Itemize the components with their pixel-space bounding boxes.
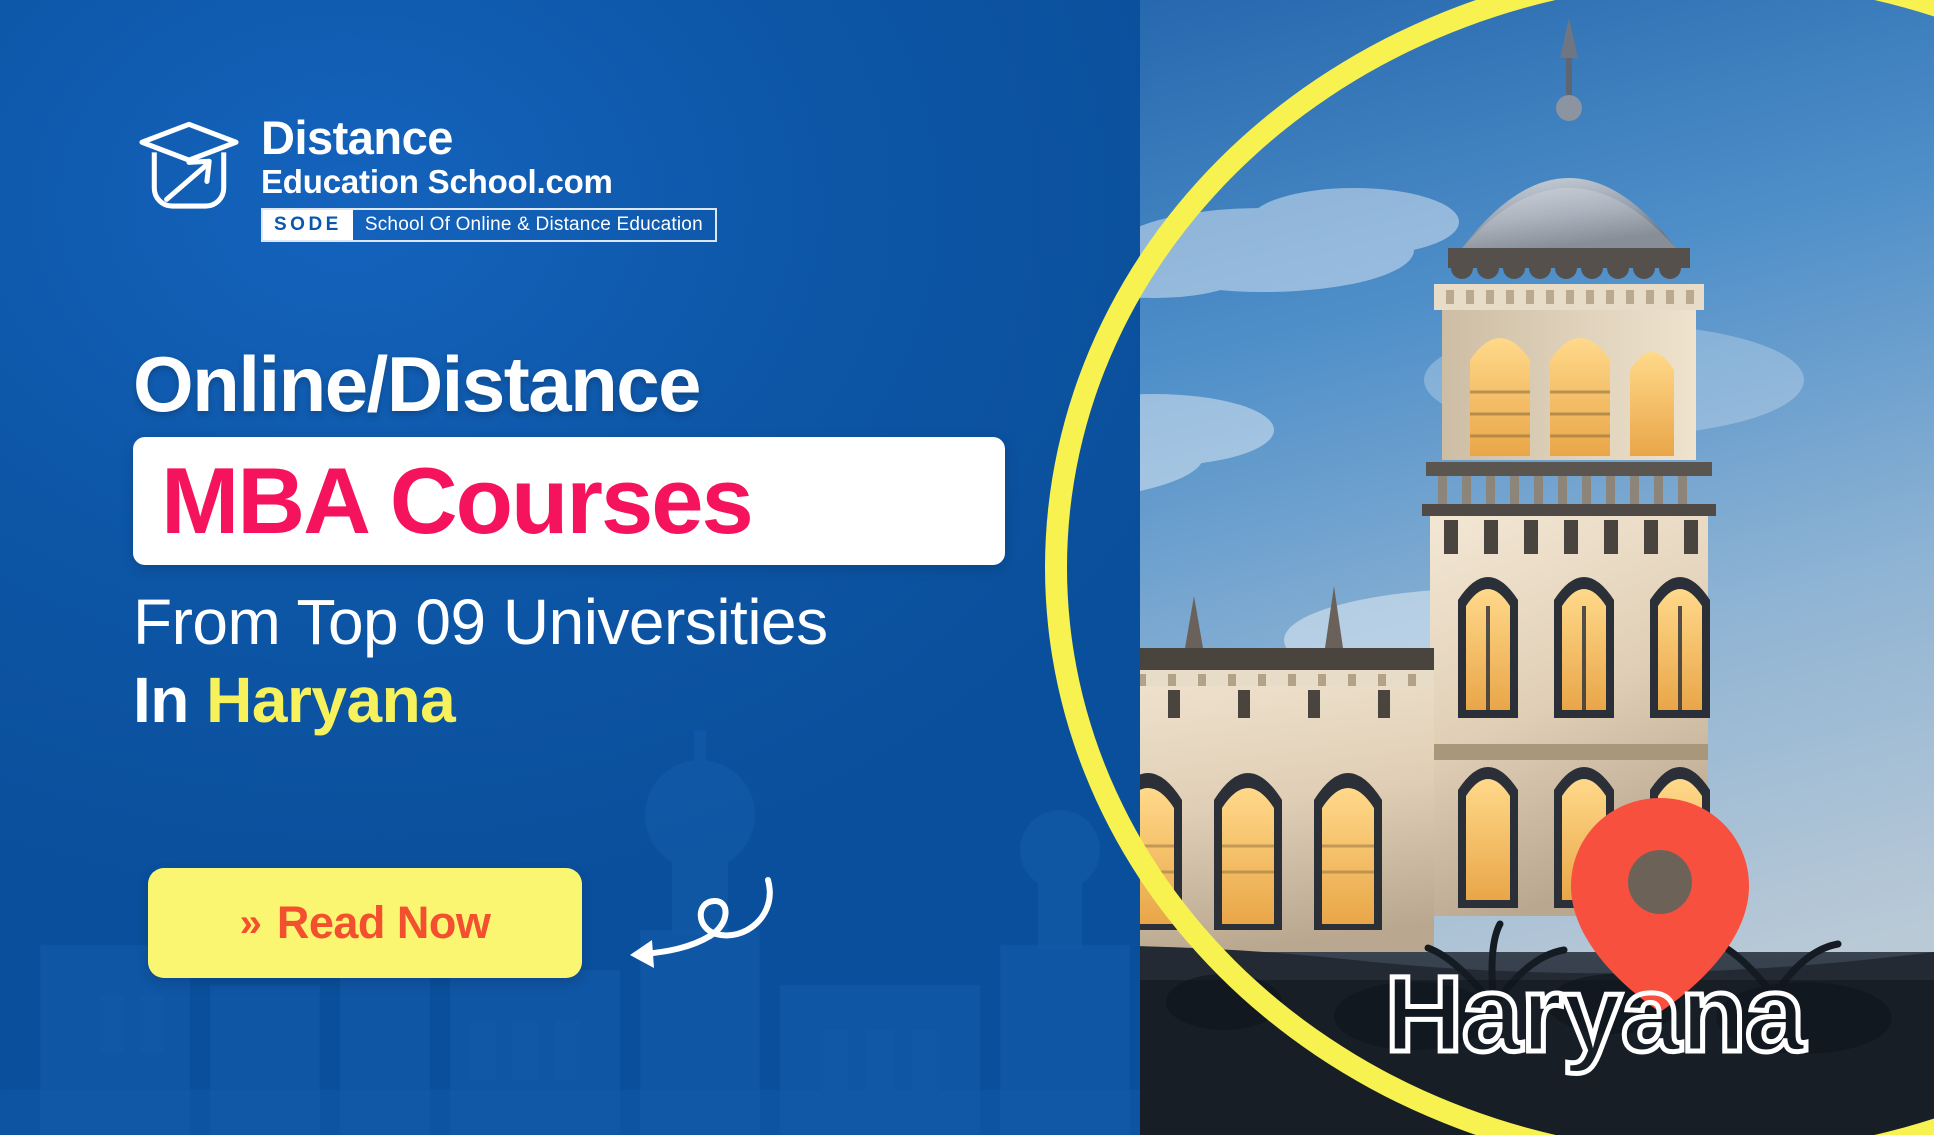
graduation-cap-arrow-icon <box>133 112 245 224</box>
sode-full-text: School Of Online & Distance Education <box>353 210 715 240</box>
read-now-label: Read Now <box>277 897 491 949</box>
headline-line4: In Haryana <box>133 665 1073 737</box>
headline-block: Online/Distance MBA Courses From Top 09 … <box>133 345 1073 736</box>
headline-line1: Online/Distance <box>133 345 1073 423</box>
headline-state-name: Haryana <box>206 664 455 736</box>
read-now-button[interactable]: » Read Now <box>148 868 582 978</box>
cta-row: » Read Now <box>148 868 778 978</box>
state-label-outline: Haryana <box>1385 960 1804 1068</box>
double-chevron-right-icon: » <box>240 903 263 943</box>
headline-line3: From Top 09 Universities <box>133 587 1073 659</box>
brand-logo[interactable]: Distance Education School.com SODE Schoo… <box>133 108 717 242</box>
headline-line4-prefix: In <box>133 664 189 736</box>
logo-name-line2: Education School.com <box>261 164 717 201</box>
sode-abbreviation: SODE <box>263 210 353 240</box>
headline-highlight-pill: MBA Courses <box>133 437 1005 565</box>
logo-name-line1: Distance <box>261 114 717 161</box>
headline-highlight-text: MBA Courses <box>161 454 752 548</box>
promo-banner: Distance Education School.com SODE Schoo… <box>0 0 1934 1135</box>
sode-badge: SODE School Of Online & Distance Educati… <box>261 208 717 242</box>
curly-arrow-left-icon <box>618 868 778 978</box>
